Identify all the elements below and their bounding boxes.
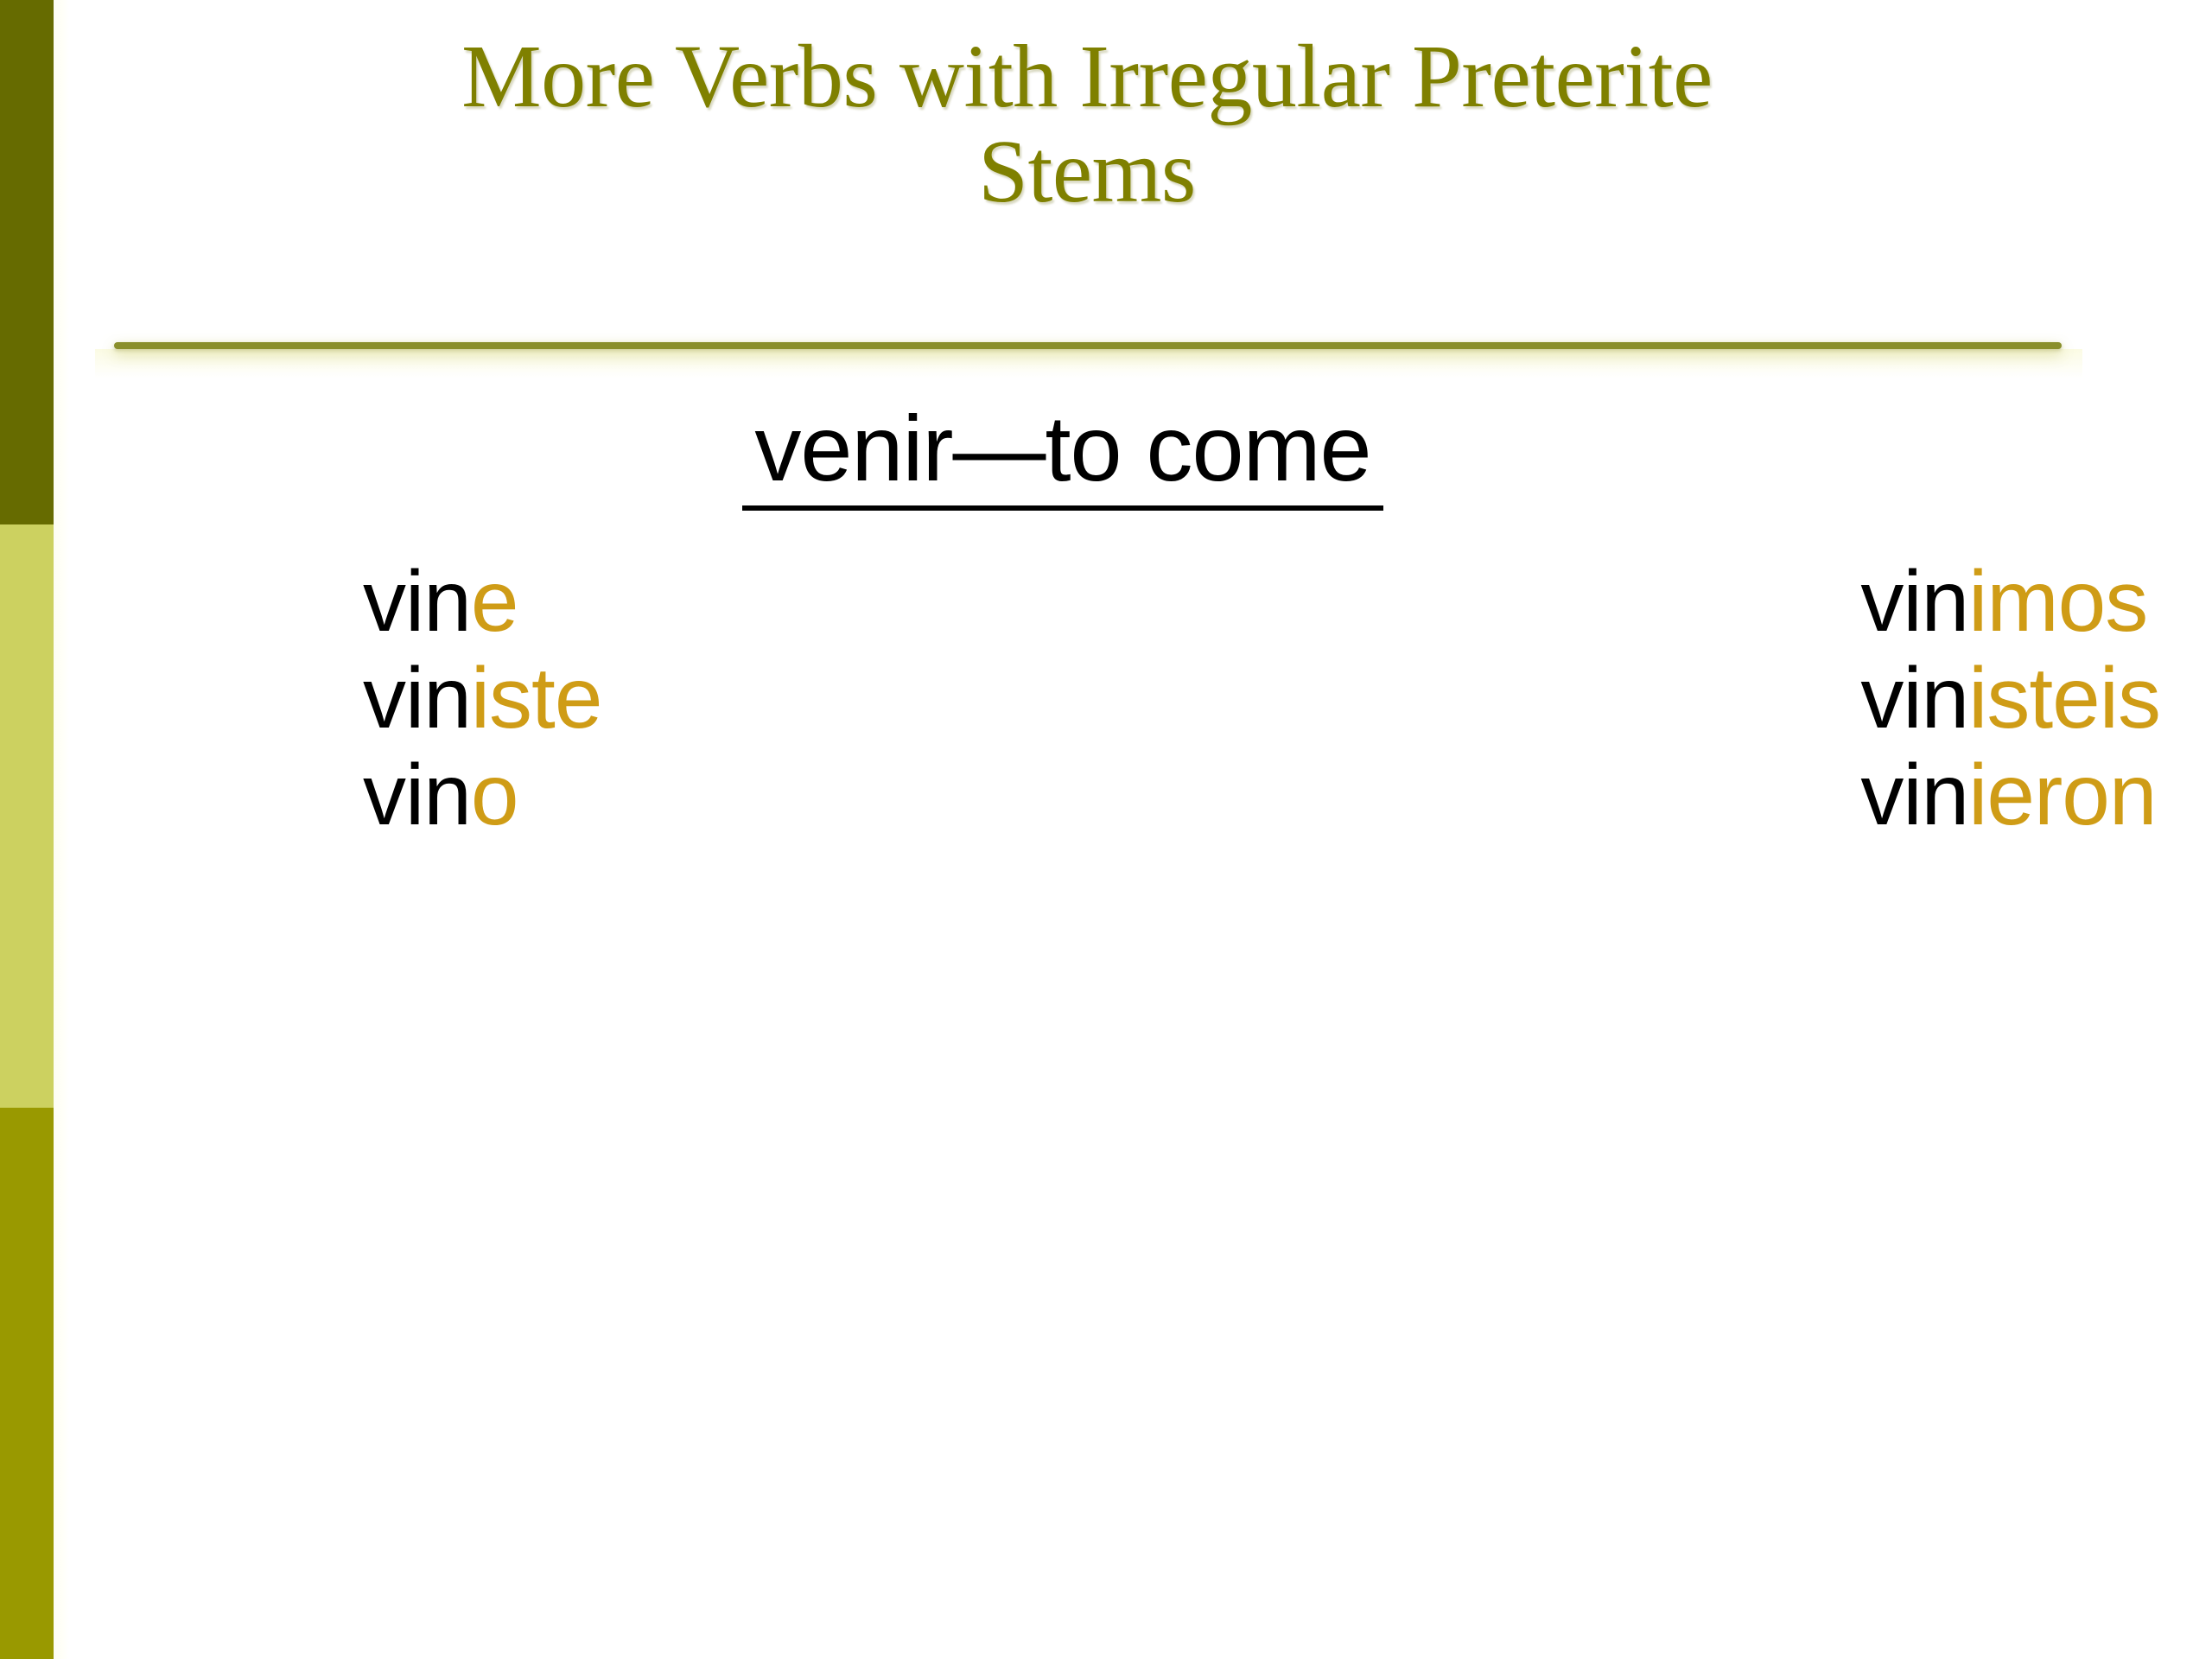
conjugation-item: viniste xyxy=(69,650,888,747)
verb-stem: vin xyxy=(363,752,471,838)
sidebar-band-bottom xyxy=(0,1108,54,1659)
sidebar-band-middle xyxy=(0,524,54,1108)
verb-stem: vin xyxy=(1860,752,1968,838)
presentation-slide: More Verbs with Irregular Preterite Stem… xyxy=(0,0,2212,1659)
verb-ending: isteis xyxy=(1968,655,2160,741)
sidebar-band-top xyxy=(0,0,54,524)
title-divider xyxy=(114,342,2062,349)
sidebar-decoration xyxy=(0,0,54,1659)
verb-ending: o xyxy=(471,752,518,838)
verb-heading-label: venir—to come xyxy=(742,402,1382,511)
conjugation-item: vinisteis xyxy=(888,650,2160,747)
verb-stem: vin xyxy=(1860,558,1968,645)
title-area: More Verbs with Irregular Preterite Stem… xyxy=(112,29,2062,219)
verb-ending: ieron xyxy=(1968,752,2156,838)
verb-ending: iste xyxy=(471,655,602,741)
sidebar-gutter xyxy=(54,0,69,1659)
conjugation-item: vinieron xyxy=(888,747,2160,843)
conjugation-item: vino xyxy=(69,747,888,843)
conjugation-item: vinimos xyxy=(888,553,2160,650)
page-title: More Verbs with Irregular Preterite Stem… xyxy=(112,29,2062,219)
verb-stem: vin xyxy=(363,655,471,741)
verb-heading: venir—to come xyxy=(69,402,2056,511)
verb-ending: imos xyxy=(1968,558,2147,645)
conjugation-grid: vine vinimos viniste vinisteis vino vini… xyxy=(69,553,2160,843)
conjugation-item: vine xyxy=(69,553,888,650)
verb-stem: vin xyxy=(1860,655,1968,741)
verb-stem: vin xyxy=(363,558,471,645)
slide-body: venir—to come vine vinimos viniste vinis… xyxy=(69,380,2212,1659)
verb-ending: e xyxy=(471,558,518,645)
title-divider-glow xyxy=(95,349,2082,378)
